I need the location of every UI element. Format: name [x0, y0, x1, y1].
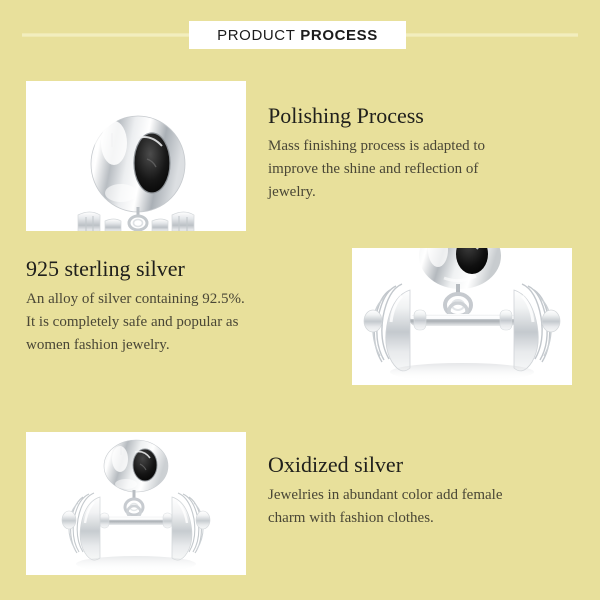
header-banner: PRODUCT PROCESS — [189, 21, 406, 49]
section-body-oxidized: Jewelries in abundant color add female c… — [268, 484, 588, 530]
section-body-sterling: An alloy of silver containing 92.5%. It … — [26, 288, 326, 357]
body-line: An alloy of silver containing 92.5%. — [26, 288, 326, 311]
body-line: women fashion jewelry. — [26, 334, 326, 357]
silver-bead-charm-photo — [26, 81, 246, 231]
page-title-word-process: PROCESS — [300, 27, 378, 44]
text-block-sterling: 925 sterling silver An alloy of silver c… — [26, 256, 326, 357]
body-line: It is completely safe and popular as — [26, 311, 326, 334]
photo-panel-oxidized — [26, 432, 246, 575]
header: PRODUCT PROCESS — [0, 21, 600, 49]
product-process-infographic: PRODUCT PROCESS — [0, 0, 600, 600]
body-line: improve the shine and reflection of — [268, 158, 568, 181]
body-line: Mass finishing process is adapted to — [268, 135, 568, 158]
text-block-polishing: Polishing Process Mass finishing process… — [268, 103, 568, 204]
section-title-sterling: 925 sterling silver — [26, 256, 326, 282]
section-title-oxidized: Oxidized silver — [268, 452, 588, 478]
dumbbell-pendant-closeup-photo — [352, 248, 572, 385]
photo-panel-sterling — [352, 248, 572, 385]
page-title-word-product: PRODUCT — [217, 27, 295, 44]
body-line: charm with fashion clothes. — [268, 507, 588, 530]
page-title: PRODUCT PROCESS — [217, 27, 378, 44]
bead-body — [91, 116, 185, 212]
section-body-polishing: Mass finishing process is adapted to imp… — [268, 135, 568, 204]
text-block-oxidized: Oxidized silver Jewelries in abundant co… — [268, 452, 588, 530]
section-title-polishing: Polishing Process — [268, 103, 568, 129]
full-dumbbell-charm-photo — [26, 432, 246, 575]
body-line: Jewelries in abundant color add female — [268, 484, 588, 507]
body-line: jewelry. — [268, 181, 568, 204]
photo-panel-polishing — [26, 81, 246, 231]
bead-body — [104, 440, 168, 492]
